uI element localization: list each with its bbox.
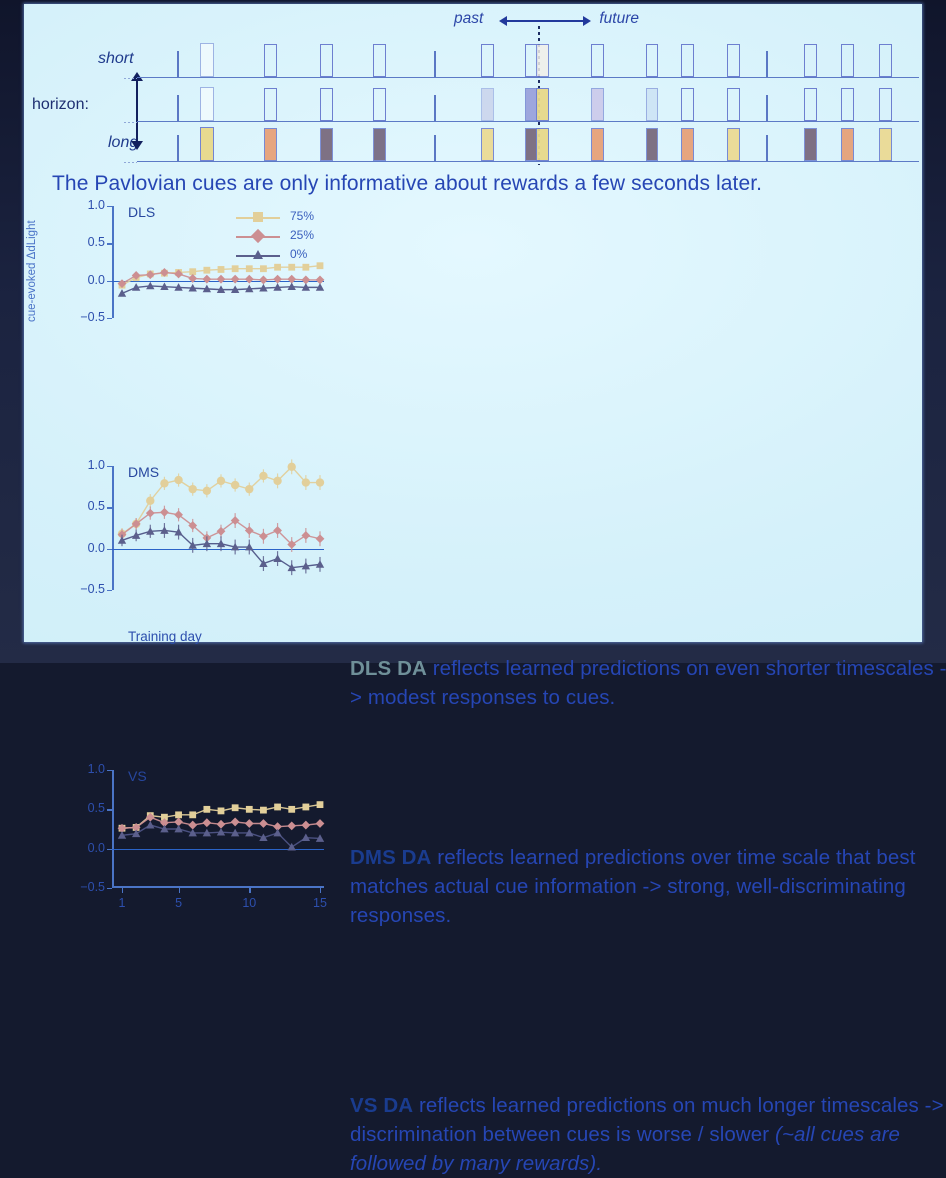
data-point-marker [232, 804, 239, 811]
timeline-cue-bar [481, 44, 494, 77]
timeline-cue-bar [841, 44, 854, 77]
timeline-row-long [24, 121, 922, 162]
explanation-dms-tag: DMS DA [350, 846, 431, 869]
timeline-row-short [24, 37, 922, 78]
timeline-cue-bar [646, 44, 658, 77]
y-axis-tick-label: 1.0 [88, 762, 105, 776]
timeline-cue-bar [804, 128, 817, 161]
timeline-cue-bar [841, 88, 854, 121]
data-point-marker [316, 534, 325, 543]
data-point-marker [231, 818, 240, 827]
data-point-marker [118, 289, 126, 297]
chart-panel-dls: −0.50.00.51.0DLS [62, 202, 330, 330]
data-point-marker [316, 819, 325, 828]
series-layer-vs [112, 770, 324, 890]
timeline-tick [766, 95, 768, 121]
data-point-marker [232, 265, 239, 272]
data-point-marker [260, 807, 267, 814]
timeline-diagram: past future short long horizon: [24, 4, 922, 170]
plot-area-dls: −0.50.00.51.0DLS [112, 206, 324, 318]
data-point-marker [317, 262, 324, 269]
data-point-marker [301, 531, 310, 540]
data-point-marker [245, 485, 253, 493]
y-axis-label: cue-evoked ΔdLight [26, 162, 38, 322]
timeline-cue-bar [264, 128, 277, 161]
slide-canvas: past future short long horizon: The Pavl… [24, 4, 922, 642]
data-point-marker [188, 821, 197, 830]
data-point-marker [175, 811, 182, 818]
timeline-tick [434, 135, 436, 161]
data-point-marker [174, 476, 182, 484]
data-point-marker [302, 804, 309, 811]
data-point-marker [259, 472, 267, 480]
timeline-cue-bar [727, 88, 740, 121]
data-point-marker [217, 275, 226, 284]
data-point-marker [217, 820, 226, 829]
data-point-marker [189, 485, 197, 493]
x-axis-tick-label: 10 [242, 896, 256, 910]
data-point-marker [231, 481, 239, 489]
timeline-cue-bar [681, 88, 694, 121]
y-axis-tick-label: 1.0 [88, 458, 105, 472]
y-axis-tick-label: −0.5 [80, 310, 105, 324]
y-axis-tick-label: 1.0 [88, 198, 105, 212]
timeline-cue-bar [320, 88, 333, 121]
timeline-cue-bar [320, 44, 333, 77]
timeline-cue-bar [200, 87, 214, 121]
data-point-marker [274, 804, 281, 811]
timeline-cue-bar [804, 88, 817, 121]
timeline-cue-bar [879, 128, 892, 161]
y-axis-tick-label: −0.5 [80, 880, 105, 894]
data-point-marker [302, 264, 309, 271]
timeline-cue-bar [591, 128, 604, 161]
x-axis-tick-label: 15 [313, 896, 327, 910]
x-axis-tick-label: 5 [175, 896, 182, 910]
data-point-marker [316, 478, 324, 486]
data-point-marker [245, 819, 254, 828]
presentation-frame: past future short long horizon: The Pavl… [0, 0, 946, 663]
data-point-marker [160, 508, 169, 517]
data-point-marker [203, 806, 210, 813]
data-point-marker [317, 801, 324, 808]
explanation-dms-body: reflects learned predictions over time s… [350, 846, 916, 927]
data-point-marker [217, 477, 225, 485]
timeline-cue-bar [591, 44, 604, 77]
data-point-marker [259, 532, 268, 541]
timeline-cue-bar [727, 44, 740, 77]
timeline-lead-dots [124, 162, 137, 163]
timeline-cue-bar [879, 88, 892, 121]
data-point-marker [301, 821, 310, 830]
series-layer-dms [112, 466, 324, 592]
data-point-marker [287, 275, 296, 284]
explanation-dms: DMS DA reflects learned predictions over… [350, 843, 946, 930]
timeline-row-medium [24, 81, 922, 122]
timeline-cue-bar [727, 128, 740, 161]
past-label: past [454, 10, 483, 28]
data-point-marker [218, 808, 225, 815]
timeline-cue-bar [536, 128, 549, 161]
chart-panel-dms: −0.50.00.51.0DMS [62, 462, 330, 612]
timeline-cue-bar [841, 128, 854, 161]
data-point-marker [273, 554, 281, 562]
timeline-cue-bar [681, 44, 694, 77]
series-layer-dls [112, 206, 324, 320]
data-point-marker [146, 497, 154, 505]
timeline-cue-bar [536, 88, 549, 121]
timeline-cue-bar [804, 44, 817, 77]
timeline-cue-bar [591, 88, 604, 121]
data-point-marker [288, 806, 295, 813]
data-point-marker [273, 829, 281, 837]
timeline-cue-bar [879, 44, 892, 77]
timeline-tick [434, 95, 436, 121]
bidirectional-arrow-icon [506, 20, 584, 22]
y-axis-tick-label: 0.0 [88, 841, 105, 855]
plot-area-dms: −0.50.00.51.0DMS [112, 466, 324, 590]
timeline-tick [177, 95, 179, 121]
data-point-marker [160, 479, 168, 487]
explanation-dls-body: reflects learned predictions on even sho… [350, 657, 946, 709]
data-point-marker [146, 821, 154, 829]
data-point-marker [301, 276, 310, 285]
timeline-cue-bar [481, 88, 494, 121]
data-point-marker [274, 264, 281, 271]
data-point-marker [273, 275, 282, 284]
chart-panel-vs: −0.50.00.51.0VS151015 [62, 766, 330, 922]
data-point-marker [302, 478, 310, 486]
timeline-cue-bar [264, 88, 277, 121]
timeline-tick [766, 135, 768, 161]
data-point-marker [189, 811, 196, 818]
y-axis-tick-label: 0.0 [88, 273, 105, 287]
data-point-marker [245, 526, 254, 535]
timeline-cue-bar [646, 128, 658, 161]
data-point-marker [246, 806, 253, 813]
data-point-marker [288, 463, 296, 471]
data-point-marker [202, 818, 211, 827]
data-point-marker [259, 276, 268, 285]
timeline-cue-bar [481, 128, 494, 161]
explanation-vs-tag: VS DA [350, 1094, 413, 1117]
timeline-cue-bar [373, 88, 386, 121]
timeline-cue-bar [200, 127, 214, 161]
timeline-cue-bar [320, 128, 333, 161]
data-point-marker [246, 265, 253, 272]
data-point-marker [203, 267, 210, 274]
data-point-marker [316, 560, 324, 568]
timeline-tick [434, 51, 436, 77]
timeline-tick [177, 135, 179, 161]
timeline-cue-bar [681, 128, 694, 161]
y-axis-tick-label: 0.5 [88, 801, 105, 815]
timeline-cue-bar [536, 44, 549, 77]
slide-caption: The Pavlovian cues are only informative … [52, 172, 912, 196]
past-future-annotation: past future [454, 9, 639, 31]
data-point-marker [203, 487, 211, 495]
data-point-marker [202, 275, 211, 284]
timeline-cue-bar [373, 44, 386, 77]
timeline-cue-bar [646, 88, 658, 121]
data-point-marker [188, 274, 197, 283]
x-axis-tick-label: 1 [119, 896, 126, 910]
y-axis-tick-label: 0.5 [88, 499, 105, 513]
future-label: future [599, 10, 639, 28]
timeline-cue-bar [264, 44, 277, 77]
data-point-marker [287, 821, 296, 830]
y-axis-tick-label: 0.0 [88, 541, 105, 555]
timeline-cue-bar [200, 43, 214, 77]
explanation-vs: VS DA reflects learned predictions on mu… [350, 1091, 946, 1178]
y-axis-tick-label: 0.5 [88, 235, 105, 249]
timeline-tick [766, 51, 768, 77]
data-point-marker [316, 276, 325, 285]
data-point-marker [273, 477, 281, 485]
timeline-tick [177, 51, 179, 77]
data-point-marker [231, 275, 240, 284]
plot-area-vs: −0.50.00.51.0VS151015 [112, 770, 324, 888]
y-axis-tick-label: −0.5 [80, 582, 105, 596]
timeline-lead-dots [124, 78, 137, 79]
data-point-marker [245, 275, 254, 284]
data-point-marker [260, 265, 267, 272]
timeline-cue-bar [373, 128, 386, 161]
data-point-marker [288, 264, 295, 271]
data-point-marker [259, 819, 268, 828]
explanation-dls-tag: DLS DA [350, 657, 427, 680]
x-axis-title: Training day [128, 629, 202, 644]
data-point-marker [218, 266, 225, 273]
